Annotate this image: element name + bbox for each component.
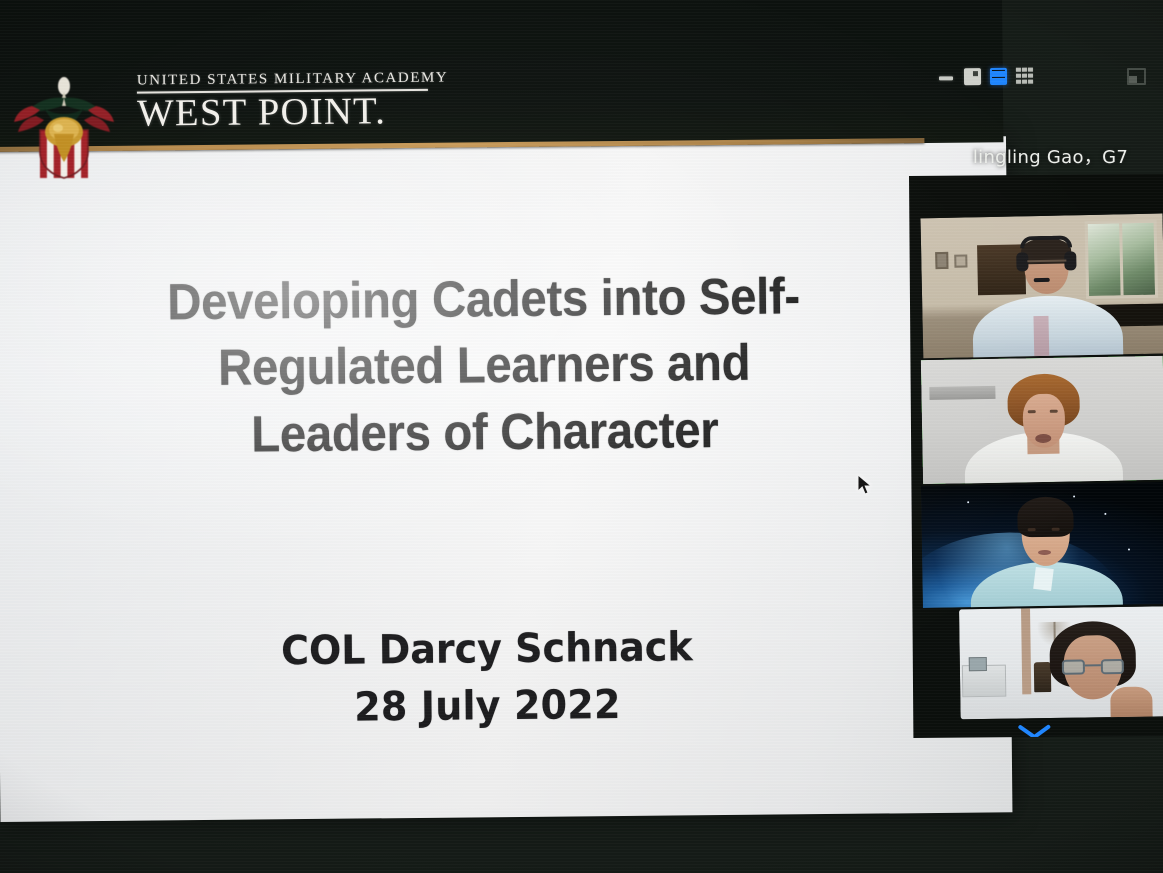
- chevron-down-icon[interactable]: [1017, 724, 1051, 738]
- participant-tile-4[interactable]: [959, 606, 1163, 719]
- slide-presenter-block: COL Darcy Schnack 28 July 2022: [78, 617, 896, 738]
- speaker-view-icon[interactable]: [964, 68, 981, 85]
- participant-tile-1[interactable]: [920, 214, 1163, 359]
- minimize-icon[interactable]: [938, 68, 955, 85]
- slide-header-band: UNITED STATES MILITARY ACADEMY WEST POIN…: [0, 0, 1003, 152]
- slide-title-line-1: Developing Cadets into Self-: [83, 262, 883, 336]
- view-controls-bar[interactable]: [938, 64, 1038, 89]
- screen-photo: Developing Cadets into Self- Regulated L…: [0, 0, 1163, 873]
- participant-tile-2[interactable]: [921, 356, 1163, 484]
- gallery-view-icon[interactable]: [1016, 67, 1033, 84]
- exit-fullscreen-icon[interactable]: [1127, 68, 1146, 85]
- slide-date: 28 July 2022: [79, 674, 897, 739]
- slide-presenter-name: COL Darcy Schnack: [78, 617, 896, 682]
- slide-title-line-2: Regulated Learners and: [84, 329, 884, 403]
- participant-video-sidebar[interactable]: [909, 174, 1163, 738]
- slide-title: Developing Cadets into Self- Regulated L…: [83, 262, 885, 469]
- wordmark-title: WEST POINT.: [137, 92, 443, 134]
- mouse-pointer: [857, 474, 873, 496]
- participant-tile-3[interactable]: [921, 482, 1163, 608]
- west-point-wordmark: UNITED STATES MILITARY ACADEMY WEST POIN…: [137, 70, 438, 134]
- slide-title-line-3: Leaders of Character: [85, 395, 885, 469]
- wordmark-eyebrow: UNITED STATES MILITARY ACADEMY: [137, 70, 437, 89]
- participant-name-label: lingling Gao，G7: [953, 143, 1148, 169]
- sidebar-view-icon[interactable]: [990, 67, 1007, 84]
- west-point-crest-icon: [6, 72, 122, 180]
